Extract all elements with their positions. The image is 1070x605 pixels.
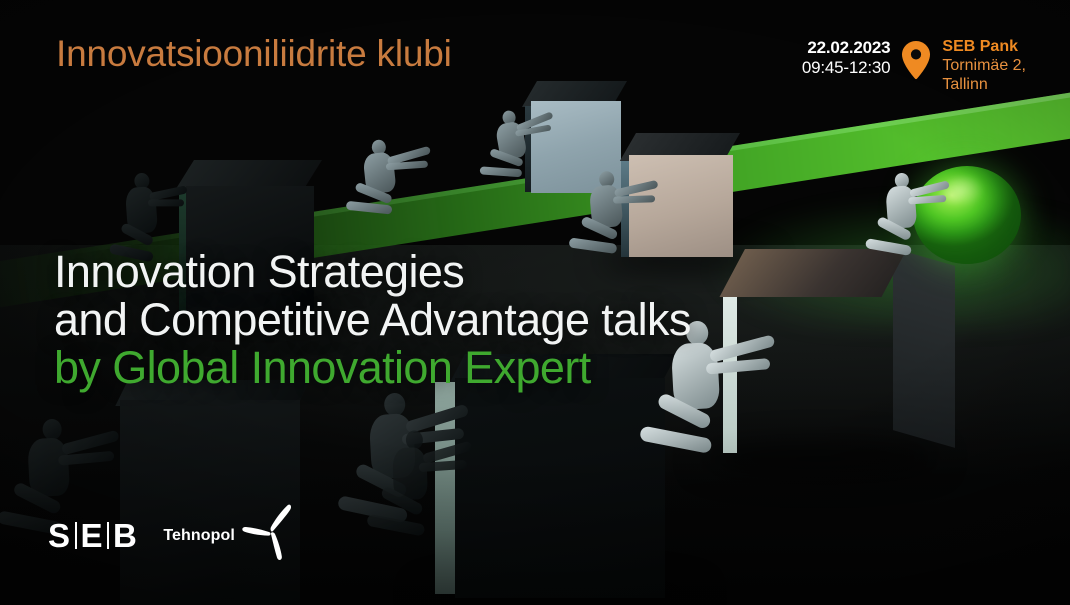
seb-logo-divider xyxy=(75,522,77,549)
headline-line-2: and Competitive Advantage talks xyxy=(54,296,691,344)
seb-logo-b: B xyxy=(113,517,137,555)
seb-logo: S E B xyxy=(48,517,137,555)
logo-row: S E B Tehnopol xyxy=(48,502,301,569)
event-address-line2: Tallinn xyxy=(942,76,1026,95)
event-date: 22.02.2023 xyxy=(802,38,891,58)
scene-cube-dark-foreground xyxy=(455,378,665,598)
event-venue: SEB Pank xyxy=(942,38,1026,57)
scene-figure-sphere-pusher xyxy=(870,169,963,281)
headline-line-3: by Global Innovation Expert xyxy=(54,344,691,392)
event-address-line1: Tornimäe 2, xyxy=(942,57,1026,76)
scene-figure-pusher xyxy=(378,428,479,571)
poster-canvas: Innovatsiooniliidrite klubi 22.02.2023 0… xyxy=(0,0,1070,605)
seb-logo-divider xyxy=(107,522,109,549)
scene-figure-pusher xyxy=(347,133,449,238)
event-time: 09:45-12:30 xyxy=(802,58,891,78)
event-where: SEB Pank Tornimäe 2, Tallinn xyxy=(942,38,1026,95)
seb-logo-s: S xyxy=(48,517,71,555)
scene-figure-pusher xyxy=(480,102,574,205)
event-meta: 22.02.2023 09:45-12:30 SEB Pank Tornimäe… xyxy=(802,38,1026,95)
tehnopol-logo: Tehnopol xyxy=(163,502,301,569)
event-when: 22.02.2023 09:45-12:30 xyxy=(802,38,891,78)
club-name: Innovatsiooniliidrite klubi xyxy=(56,33,452,75)
tehnopol-tri-blade-icon xyxy=(239,502,301,569)
headline: Innovation Strategies and Competitive Ad… xyxy=(54,248,691,392)
tehnopol-logo-word: Tehnopol xyxy=(163,527,235,545)
location-pin-icon xyxy=(901,40,931,85)
headline-line-1: Innovation Strategies xyxy=(54,248,691,296)
seb-logo-e: E xyxy=(81,517,104,555)
